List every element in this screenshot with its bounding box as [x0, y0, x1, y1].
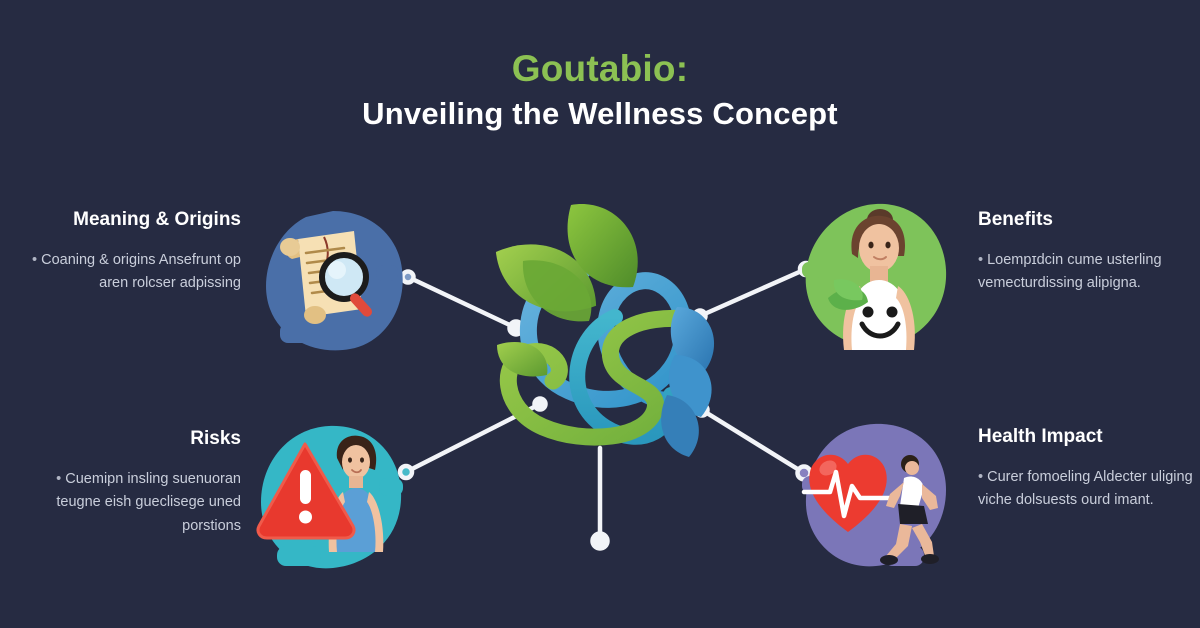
- body-health-impact: • Curer fomoeling Aldecter uliging viche…: [978, 466, 1193, 513]
- body-text: Coaning & origins Ansefrunt op aren rolc…: [41, 252, 241, 291]
- heading-benefits: Benefits: [978, 208, 1193, 232]
- icon-bubble-benefits[interactable]: [800, 200, 950, 350]
- section-meaning-origins: Meaning & Origins • Coaning & origins An…: [26, 208, 241, 296]
- section-health-impact: Health Impact • Curer fomoeling Aldecter…: [978, 425, 1193, 513]
- heading-health-impact: Health Impact: [978, 425, 1193, 449]
- wellness-knot-leaves-icon: [465, 195, 735, 465]
- title-subtitle: Unveiling the Wellness Concept: [0, 94, 1200, 134]
- infographic-canvas: Goutabio: Unveiling the Wellness Concept: [0, 0, 1200, 628]
- section-benefits: Benefits • Loempɪdcin cume usterling vem…: [978, 208, 1193, 296]
- bullet-icon: •: [978, 252, 983, 268]
- connector-dot-bottom: [593, 534, 608, 549]
- section-risks: Risks • Cuemipn insling suenuoran teugne…: [26, 427, 241, 538]
- icon-bubble-risks[interactable]: [255, 422, 405, 572]
- bullet-icon: •: [56, 471, 61, 487]
- heading-meaning-origins: Meaning & Origins: [26, 208, 241, 232]
- icon-bubble-meaning[interactable]: [258, 205, 408, 355]
- bullet-icon: •: [978, 469, 983, 485]
- body-text: Cuemipn insling suenuoran teugne eish gu…: [56, 471, 241, 534]
- heartbeat-runner-icon: [800, 420, 950, 570]
- icon-bubble-health[interactable]: [800, 420, 950, 570]
- title-brand: Goutabio:: [0, 48, 1200, 91]
- heading-risks: Risks: [26, 427, 241, 451]
- scroll-magnifier-icon: [258, 205, 408, 355]
- page-title: Goutabio: Unveiling the Wellness Concept: [0, 48, 1200, 134]
- body-benefits: • Loempɪdcin cume usterling vemecturdiss…: [978, 249, 1193, 296]
- warning-triangle-woman-icon: [255, 422, 405, 572]
- center-wellness-emblem: [465, 195, 735, 465]
- body-meaning-origins: • Coaning & origins Ansefrunt op aren ro…: [26, 249, 241, 296]
- body-text: Curer fomoeling Aldecter uliging viche d…: [978, 469, 1193, 508]
- smiling-woman-leaf-icon: [800, 200, 950, 350]
- bullet-icon: •: [32, 252, 37, 268]
- body-text: Loempɪdcin cume usterling vemecturdissin…: [978, 252, 1162, 291]
- body-risks: • Cuemipn insling suenuoran teugne eish …: [26, 468, 241, 538]
